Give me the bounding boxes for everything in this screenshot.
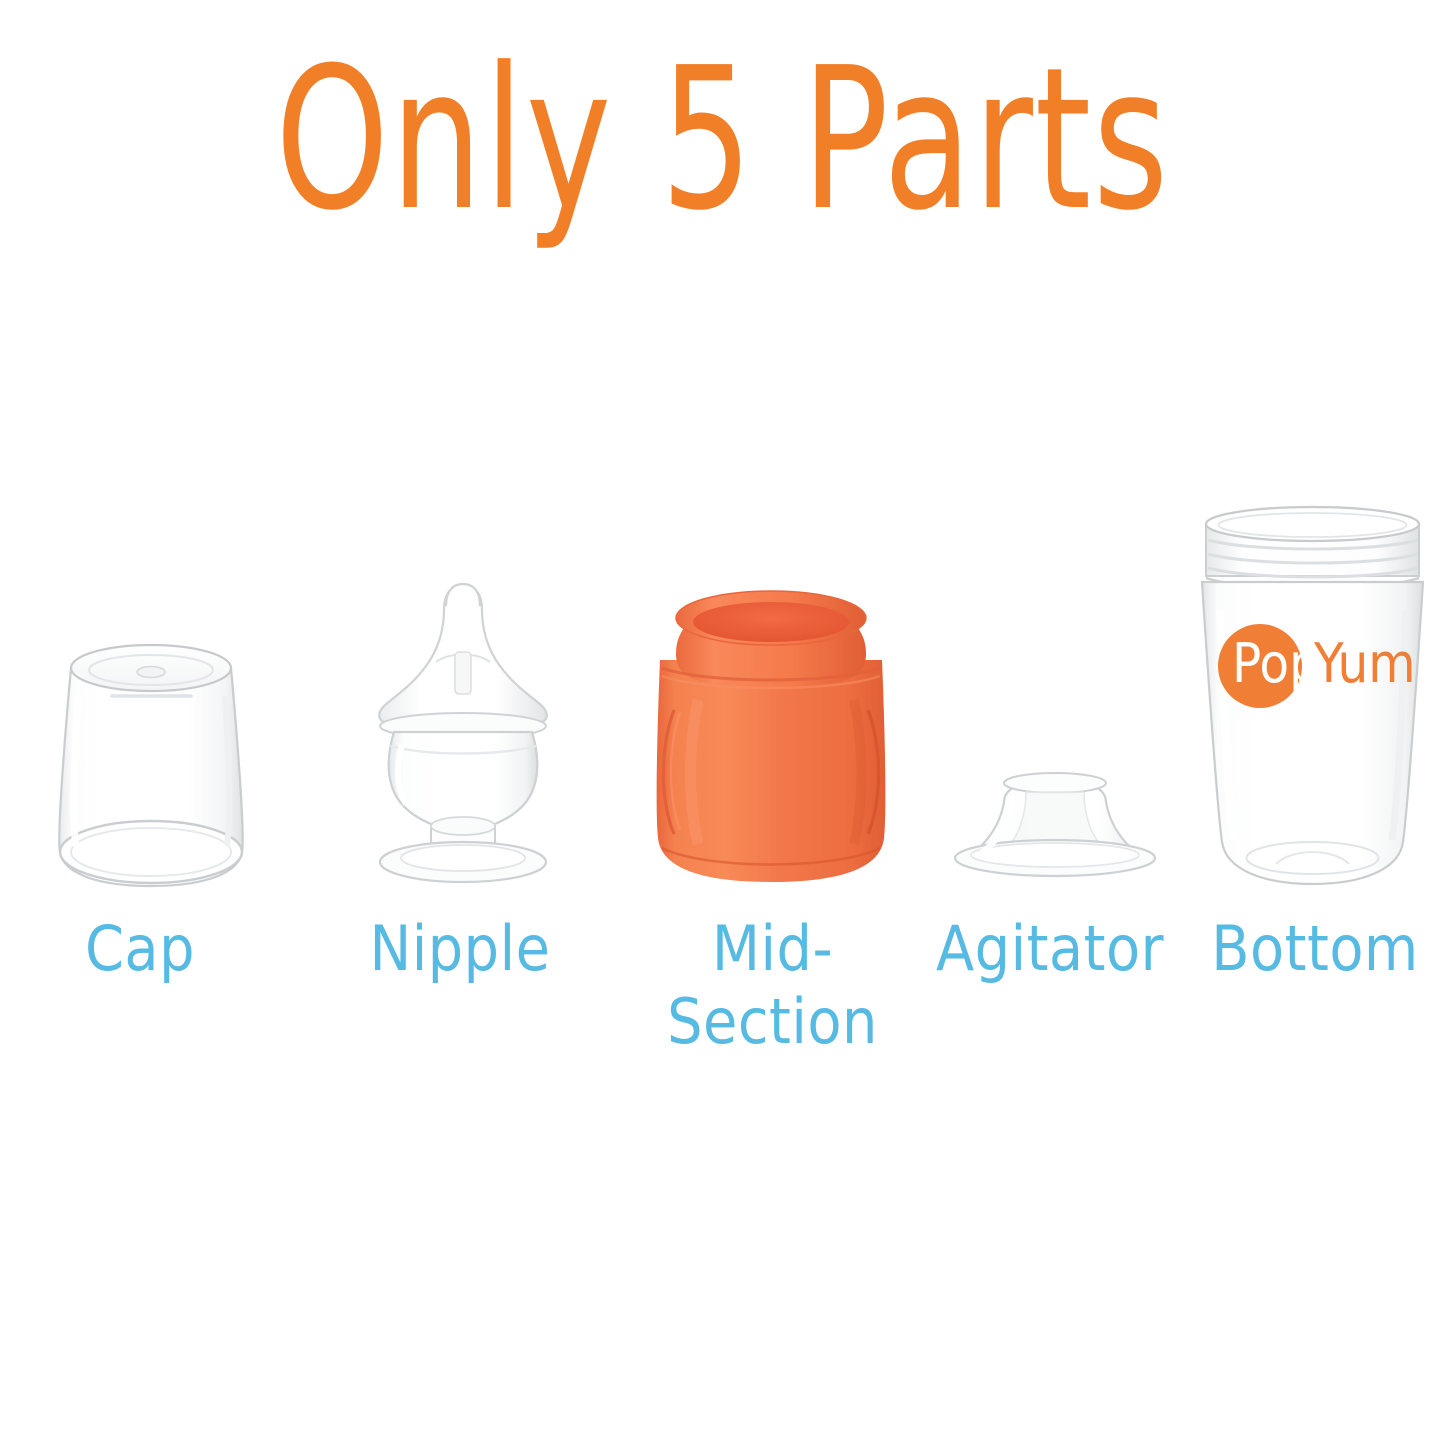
part-image-mid-section bbox=[636, 500, 906, 900]
cap-shape bbox=[59, 645, 242, 886]
part-image-bottom: Pop Yum bbox=[1180, 500, 1445, 900]
part-label-cap: Cap bbox=[5, 912, 275, 985]
parts-label-row: Cap Nipple Mid- Section Agitator Bottom bbox=[0, 912, 1445, 1072]
cap-center-dimple bbox=[137, 667, 165, 678]
agitator-top-ellipse bbox=[1004, 773, 1106, 793]
part-label-mid-section: Mid- Section bbox=[625, 912, 920, 1058]
part-image-cap bbox=[16, 500, 286, 900]
part-image-nipple bbox=[328, 500, 598, 900]
part-label-agitator: Agitator bbox=[900, 912, 1200, 985]
logo-yum-text: Yum bbox=[1313, 632, 1416, 695]
mid-section-opening bbox=[693, 602, 849, 642]
part-label-nipple: Nipple bbox=[320, 912, 600, 985]
logo-pop-text: Pop bbox=[1232, 632, 1320, 695]
bottom-jar-shape: Pop Yum bbox=[1202, 507, 1423, 884]
nipple-shape bbox=[379, 584, 547, 882]
mid-section-shape bbox=[657, 591, 886, 882]
part-label-bottom: Bottom bbox=[1185, 912, 1445, 985]
part-image-agitator bbox=[920, 500, 1190, 900]
parts-illustration-row: Pop Yum bbox=[0, 500, 1445, 900]
agitator-shape bbox=[955, 773, 1155, 876]
nipple-collar bbox=[389, 732, 538, 826]
infographic-page: Only 5 Parts bbox=[0, 0, 1445, 1445]
page-title: Only 5 Parts bbox=[130, 42, 1315, 238]
